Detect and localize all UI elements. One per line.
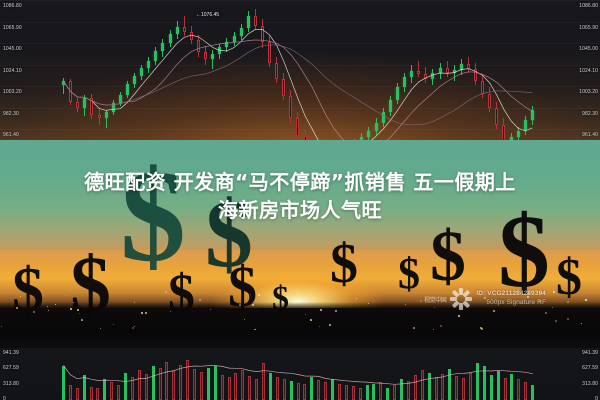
volume-ma-overlay [0,348,600,400]
light-particle [310,319,312,321]
watermark: 视觉中国 ID: VCG211284289394 500px Signature… [424,282,600,316]
light-particle [258,294,260,296]
light-particle [567,318,569,320]
light-particle [252,304,254,306]
light-particle [405,304,406,305]
main-axis-right-tick: 982.30 [582,111,598,117]
headline-line-1: 德旺配资 开发商“马不停蹄”抓销售 五一假期上 [0,168,600,196]
light-particle [320,309,322,311]
dollar-sign-icon: $ [330,236,358,292]
volume-axis-left: 941.39627.59313.800 [0,348,60,400]
light-particle [420,300,422,302]
volume-axis-tick: 941.39 [582,350,598,356]
light-particle [47,306,48,307]
light-particle [199,299,201,301]
light-particle [65,295,66,296]
main-axis-left-tick: 1065.90 [3,25,22,31]
light-particle [581,323,582,324]
light-particle [294,290,295,291]
price-chart-panel: ←1076.45 [0,0,600,150]
light-particle [79,313,80,314]
volume-axis-tick: 627.59 [582,365,598,371]
light-particle [480,327,482,329]
light-particle [368,303,369,304]
light-particle [141,312,143,314]
light-particle [16,307,18,309]
light-particle [239,304,241,306]
news-article-image: ←1076.45 1086.801065.901045.001024.10100… [0,0,600,400]
vcg-brand-label: 视觉中国 [424,295,446,304]
main-axis-right-tick: 1065.90 [579,25,598,31]
light-particle [33,311,35,313]
light-particle [555,320,557,322]
dollar-sign-icon: $ [272,282,289,316]
main-axis-left-tick: 1045.00 [3,46,22,52]
dollar-sign-icon: $ [168,266,195,320]
dollar-sign-icon: $ [228,258,257,316]
light-particle [165,291,167,293]
volume-axis-tick: 627.59 [3,365,19,371]
peak-annotation: ←1076.45 [196,12,219,18]
volume-ma-line [64,365,533,384]
main-axis-right-tick: 1003.20 [579,89,598,95]
volume-axis-tick: 0 [595,396,598,400]
volume-axis-tick: 313.80 [3,381,19,387]
ma-line-20 [64,45,533,125]
watermark-collection: 500px Signature RF [476,299,546,308]
main-axis-right-tick: 1086.80 [579,3,598,9]
light-particle [440,325,442,327]
main-axis-left-tick: 961.40 [3,132,19,138]
main-axis-left-tick: 982.30 [3,111,19,117]
light-particle [1,326,2,327]
volume-chart-panel [0,348,600,400]
light-particle [244,299,245,300]
light-particle [319,326,320,327]
light-particle [70,308,72,310]
panel-separator [0,330,600,348]
main-axis-left-tick: 1086.80 [3,3,22,9]
watermark-text: ID: VCG211284289394 500px Signature RF [476,290,546,308]
light-particle [145,312,147,314]
light-particle [413,327,415,329]
main-axis-left-tick: 1024.10 [3,68,22,74]
light-particle [134,326,135,327]
main-axis-right-tick: 1024.10 [579,68,598,74]
light-particle [134,302,135,303]
page-title: 德旺配资 开发商“马不停蹄”抓销售 五一假期上 海新房市场人气旺 [0,168,600,225]
ma-line-5 [64,30,533,151]
watermark-id: ID: VCG211284289394 [476,290,546,299]
headline-line-2: 海新房市场人气旺 [0,196,600,224]
dollar-sign-icon: $ [398,252,420,296]
dollar-sign-icon: $ [70,244,111,326]
light-particle [81,319,83,321]
main-axis-right-tick: 961.40 [582,132,598,138]
volume-axis-tick: 0 [3,396,6,400]
volume-axis-tick: 313.80 [582,381,598,387]
moving-average-overlay [0,0,600,150]
volume-axis-tick: 941.39 [3,350,19,356]
volume-axis-right: 941.39627.59313.800 [540,348,600,400]
light-particle [329,324,331,326]
main-axis-left-tick: 1003.20 [3,89,22,95]
vcg-asterisk-icon [450,288,472,310]
dollar-sign-icon: $ [12,258,44,322]
main-axis-right-tick: 1045.00 [579,46,598,52]
light-particle [77,309,79,311]
light-particle [335,310,337,312]
